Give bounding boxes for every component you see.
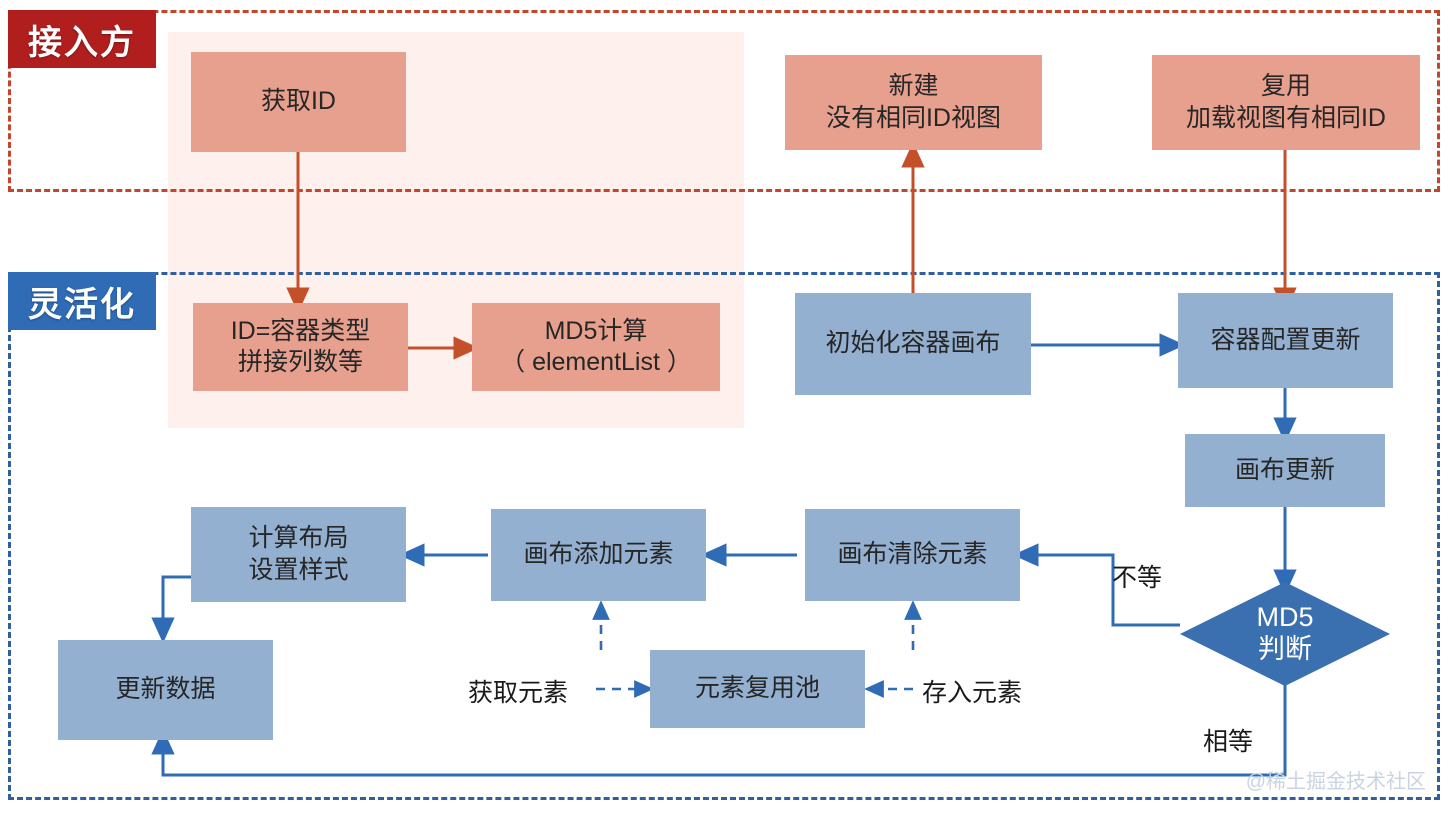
node-new-view[interactable]: 新建 没有相同ID视图 — [785, 55, 1042, 150]
node-update-data[interactable]: 更新数据 — [58, 640, 273, 740]
edge-label-store-element: 存入元素 — [922, 673, 1022, 709]
node-get-id-line1: 获取ID — [261, 86, 336, 118]
zone-label-access-text: 接入方 — [28, 15, 136, 64]
node-element-pool[interactable]: 元素复用池 — [650, 650, 865, 728]
node-new-view-line2: 没有相同ID视图 — [826, 103, 1001, 135]
zone-label-flex-text: 灵活化 — [28, 277, 136, 326]
node-config-update-line1: 容器配置更新 — [1210, 325, 1360, 357]
node-id-compose-line2: 拼接列数等 — [238, 347, 363, 379]
watermark: @稀土掘金技术社区 — [1246, 765, 1426, 794]
node-new-view-line1: 新建 — [888, 71, 938, 103]
node-calc-layout-line1: 计算布局 — [248, 523, 348, 555]
node-md5-decision-line2: 判断 — [1256, 634, 1313, 666]
node-reuse-view[interactable]: 复用 加载视图有相同ID — [1152, 55, 1420, 150]
flowchart-canvas: 接入方 灵活化 获取ID 新建 没有相同ID视图 复用 加载视图有相同ID ID… — [0, 0, 1448, 816]
node-reuse-view-line1: 复用 — [1261, 71, 1311, 103]
node-get-id[interactable]: 获取ID — [191, 52, 406, 152]
node-md5-calc-line1: MD5计算 — [545, 316, 648, 348]
node-canvas-clear-line1: 画布清除元素 — [837, 539, 987, 571]
node-calc-layout[interactable]: 计算布局 设置样式 — [191, 507, 406, 602]
node-config-update[interactable]: 容器配置更新 — [1178, 293, 1393, 388]
edge-label-get-element: 获取元素 — [468, 673, 568, 709]
node-canvas-update-line1: 画布更新 — [1235, 455, 1335, 487]
node-md5-calc-line2: （ elementList ） — [500, 347, 692, 379]
node-element-pool-line1: 元素复用池 — [695, 673, 820, 705]
edge-label-equal: 相等 — [1203, 722, 1253, 758]
node-md5-decision-label: MD5 判断 — [1256, 602, 1313, 666]
node-init-canvas-line1: 初始化容器画布 — [825, 328, 1000, 360]
node-id-compose-line1: ID=容器类型 — [231, 316, 371, 348]
node-md5-decision-line1: MD5 — [1256, 602, 1313, 634]
node-canvas-add-line1: 画布添加元素 — [523, 539, 673, 571]
node-canvas-update[interactable]: 画布更新 — [1185, 434, 1385, 507]
node-update-data-line1: 更新数据 — [115, 674, 215, 706]
node-md5-calc[interactable]: MD5计算 （ elementList ） — [472, 303, 720, 391]
node-init-canvas[interactable]: 初始化容器画布 — [795, 293, 1031, 395]
node-md5-decision[interactable]: MD5 判断 — [1180, 582, 1390, 686]
node-reuse-view-line2: 加载视图有相同ID — [1186, 103, 1386, 135]
node-calc-layout-line2: 设置样式 — [248, 555, 348, 587]
node-id-compose[interactable]: ID=容器类型 拼接列数等 — [193, 303, 408, 391]
zone-label-flex: 灵活化 — [8, 272, 156, 330]
node-canvas-clear[interactable]: 画布清除元素 — [805, 509, 1020, 601]
edge-label-not-equal: 不等 — [1112, 558, 1162, 594]
node-canvas-add[interactable]: 画布添加元素 — [491, 509, 706, 601]
zone-label-access: 接入方 — [8, 10, 156, 68]
